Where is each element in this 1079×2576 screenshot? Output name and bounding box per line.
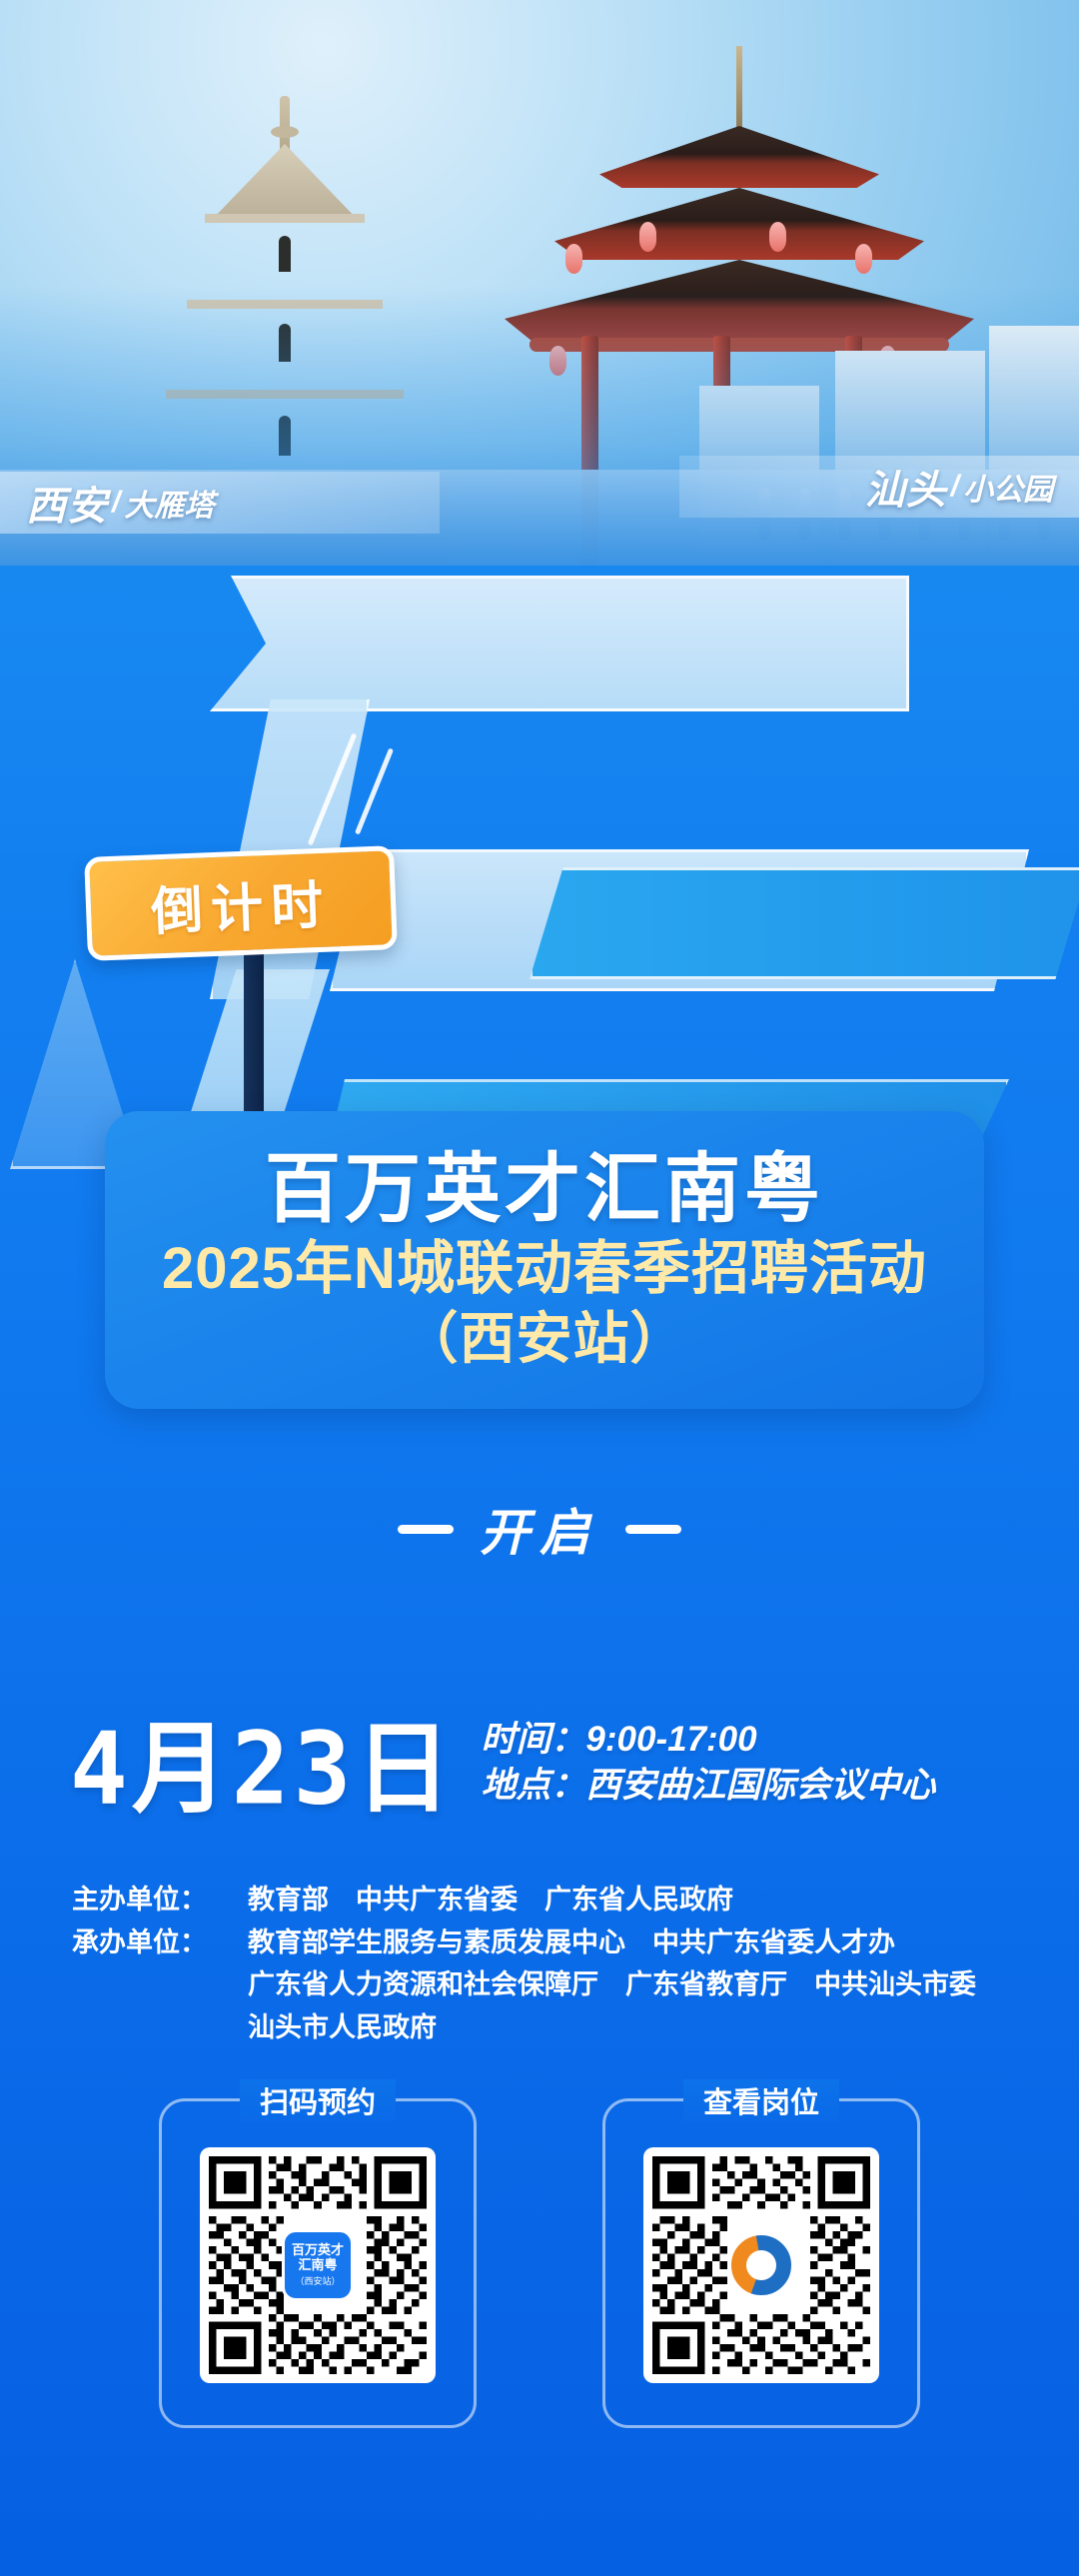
event-time-place: 时间：9:00-17:00 地点：西安曲江国际会议中心 [481, 1717, 935, 1817]
city-name-shantou: 汕头 [865, 458, 947, 516]
poster-root: 西安 / 大雁塔 汕头 / 小公园 倒计时 百万英才汇南粤 2025年N城联动春… [0, 0, 1079, 2576]
qr-card-booking[interactable]: 扫码预约 [159, 2098, 477, 2428]
host-label: 主办单位： [72, 1879, 248, 1922]
qr-image-booking[interactable]: 百万英才 汇南粤 （西安站） [200, 2147, 436, 2383]
countdown-sign: 倒计时 [84, 845, 398, 961]
qr-center-logo-jobs [728, 2232, 794, 2298]
organizer-value-line-3: 汕头市人民政府 [72, 2006, 1051, 2049]
organizer-block: 主办单位： 教育部 中共广东省委 广东省人民政府 承办单位： 教育部学生服务与素… [72, 1879, 1051, 2049]
qr-center-logo-booking: 百万英才 汇南粤 （西安站） [282, 2229, 354, 2301]
city-name-xian: 西安 [26, 474, 108, 532]
organizer-row: 承办单位： 教育部学生服务与素质发展中心 中共广东省委人才办 [72, 1922, 1051, 1964]
qr-logo-line-1: 百万英才 [292, 2243, 344, 2258]
opening-banner: 开启 [0, 1493, 1079, 1565]
signpost-pole [244, 937, 264, 1137]
countdown-label: 倒计时 [150, 862, 333, 944]
organizer-value-line-2: 广东省人力资源和社会保障厅 广东省教育厅 中共汕头市委 [72, 1963, 1051, 2006]
organizer-label: 承办单位： [72, 1922, 248, 1964]
host-value: 教育部 中共广东省委 广东省人民政府 [248, 1879, 1051, 1922]
hero-photo-band: 西安 / 大雁塔 汕头 / 小公园 [0, 0, 1079, 566]
city-label-shantou: 汕头 / 小公园 [679, 456, 1079, 518]
qr-caption-booking: 扫码预约 [240, 2079, 396, 2121]
title-line-1: 百万英才汇南粤 [265, 1150, 824, 1230]
qr-card-jobs[interactable]: 查看岗位 [602, 2098, 920, 2428]
city-label-separator: / [112, 486, 120, 520]
city-label-xian: 西安 / 大雁塔 [0, 472, 440, 534]
title-line-3: （西安站） [403, 1308, 687, 1370]
event-date-block: 4月23日 时间：9:00-17:00 地点：西安曲江国际会议中心 [70, 1717, 1029, 1817]
dash-right-icon [625, 1525, 681, 1534]
opening-text: 开启 [480, 1493, 599, 1565]
event-title-card: 百万英才汇南粤 2025年N城联动春季招聘活动 （西安站） [105, 1111, 984, 1409]
dash-left-icon [398, 1525, 454, 1534]
organizer-value-line-1: 教育部学生服务与素质发展中心 中共广东省委人才办 [248, 1922, 1051, 1964]
title-line-2: 2025年N城联动春季招聘活动 [162, 1236, 927, 1303]
qr-code-section: 扫码预约 [0, 2098, 1079, 2428]
landmark-name-dayanta: 大雁塔 [124, 481, 214, 525]
event-place: 地点：西安曲江国际会议中心 [481, 1763, 935, 1809]
landmark-name-xiaogongyuan: 小公园 [963, 465, 1053, 509]
qr-caption-jobs: 查看岗位 [683, 2079, 839, 2121]
event-time: 时间：9:00-17:00 [481, 1717, 935, 1763]
chevron-accent-band-upper [530, 867, 1079, 979]
qr-image-jobs[interactable] [643, 2147, 879, 2383]
qr-logo-sub: （西安站） [295, 2274, 340, 2287]
chevron-top-bar [210, 576, 909, 711]
city-label-separator: / [951, 470, 959, 504]
host-row: 主办单位： 教育部 中共广东省委 广东省人民政府 [72, 1879, 1051, 1922]
qr-logo-line-2: 汇南粤 [298, 2258, 337, 2273]
event-date: 4月23日 [70, 1719, 455, 1819]
